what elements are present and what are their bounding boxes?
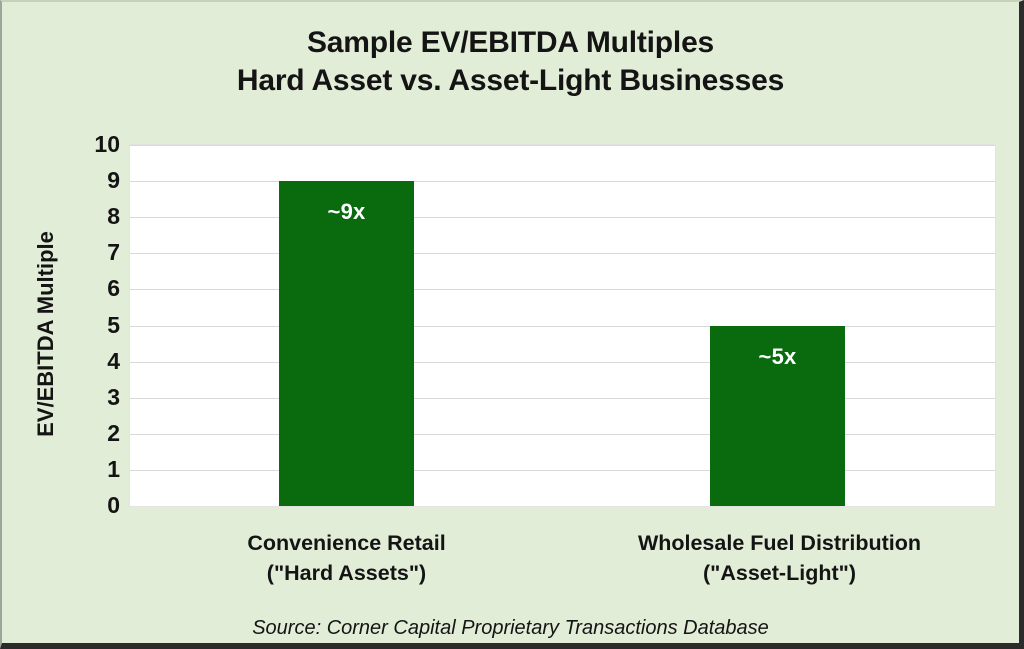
y-tick-10: 10 — [60, 133, 120, 156]
y-axis-tick-labels: 10 9 8 7 6 5 4 3 2 1 0 — [50, 145, 120, 506]
y-tick-5: 5 — [60, 314, 120, 337]
y-tick-6: 6 — [60, 277, 120, 300]
chart-slide: Sample EV/EBITDA Multiples Hard Asset vs… — [0, 0, 1024, 649]
chart-title-line-2: Hard Asset vs. Asset-Light Businesses — [2, 62, 1019, 100]
gridline-2 — [130, 434, 995, 435]
gridline-10 — [130, 145, 995, 146]
gridline-8 — [130, 217, 995, 218]
gridline-1 — [130, 470, 995, 471]
x-category-convenience-retail: Convenience Retail ("Hard Assets") — [130, 528, 563, 588]
source-note: Source: Corner Capital Proprietary Trans… — [2, 617, 1019, 640]
y-tick-8: 8 — [60, 205, 120, 228]
y-tick-4: 4 — [60, 350, 120, 373]
x-category-wholesale-fuel-distribution-line-2: ("Asset-Light") — [563, 558, 996, 588]
plot-area: ~9x ~5x — [130, 145, 995, 506]
y-tick-9: 9 — [60, 169, 120, 192]
gridline-7 — [130, 253, 995, 254]
y-tick-3: 3 — [60, 386, 120, 409]
gridline-4 — [130, 362, 995, 363]
gridline-5 — [130, 326, 995, 327]
y-tick-7: 7 — [60, 241, 120, 264]
bar-wholesale-fuel-distribution[interactable]: ~5x — [710, 326, 845, 507]
x-category-wholesale-fuel-distribution: Wholesale Fuel Distribution ("Asset-Ligh… — [563, 528, 996, 588]
bar-label-wholesale-fuel-distribution: ~5x — [710, 344, 845, 370]
x-category-wholesale-fuel-distribution-line-1: Wholesale Fuel Distribution — [563, 528, 996, 558]
y-tick-2: 2 — [60, 422, 120, 445]
gridline-6 — [130, 289, 995, 290]
chart-title: Sample EV/EBITDA Multiples Hard Asset vs… — [2, 24, 1019, 100]
chart-title-line-1: Sample EV/EBITDA Multiples — [2, 24, 1019, 62]
gridline-9 — [130, 181, 995, 182]
x-axis-category-labels: Convenience Retail ("Hard Assets") Whole… — [130, 528, 995, 598]
y-tick-0: 0 — [60, 494, 120, 517]
bar-label-convenience-retail: ~9x — [279, 199, 414, 225]
y-tick-1: 1 — [60, 458, 120, 481]
gridline-3 — [130, 398, 995, 399]
x-category-convenience-retail-line-1: Convenience Retail — [130, 528, 563, 558]
bar-convenience-retail[interactable]: ~9x — [279, 181, 414, 506]
x-category-convenience-retail-line-2: ("Hard Assets") — [130, 558, 563, 588]
